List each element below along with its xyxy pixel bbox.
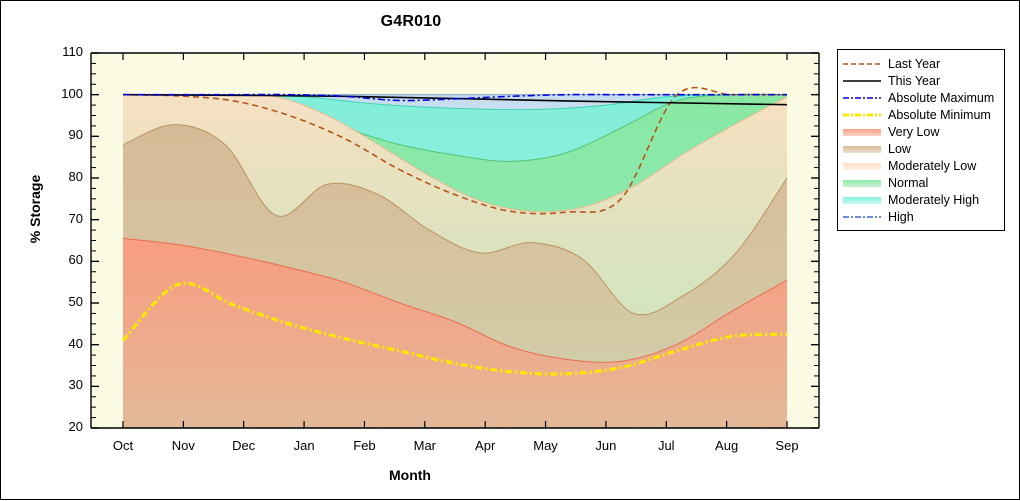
y-tick-label: 110: [43, 44, 83, 59]
x-tick-label: Mar: [395, 438, 455, 453]
legend-key-line-dash-dot-icon: [842, 210, 882, 224]
legend-item[interactable]: Moderately High: [842, 191, 1000, 208]
legend-item[interactable]: Normal: [842, 174, 1000, 191]
y-tick-label: 30: [43, 377, 83, 392]
x-tick-label: Apr: [455, 438, 515, 453]
y-axis-title: % Storage: [27, 149, 43, 269]
legend-key-line-solid-icon: [842, 74, 882, 88]
legend-key-swatch-icon: [842, 193, 882, 207]
legend-item[interactable]: Absolute Maximum: [842, 89, 1000, 106]
legend-key-line-dash-dot-icon: [842, 108, 882, 122]
legend-item-label: Moderately High: [888, 193, 979, 207]
x-tick-label: Aug: [697, 438, 757, 453]
legend-item[interactable]: High: [842, 208, 1000, 225]
legend-item-label: Very Low: [888, 125, 939, 139]
legend-item-label: Absolute Minimum: [888, 108, 991, 122]
y-tick-label: 60: [43, 252, 83, 267]
y-tick-label: 20: [43, 419, 83, 434]
chart-window: G4R010 % Storage Month 20304050607080901…: [0, 0, 1020, 500]
x-tick-label: Oct: [93, 438, 153, 453]
legend-item-label: Absolute Maximum: [888, 91, 994, 105]
legend-item[interactable]: Absolute Minimum: [842, 106, 1000, 123]
legend-key-swatch-icon: [842, 176, 882, 190]
x-tick-label: Nov: [153, 438, 213, 453]
x-tick-label: Jul: [636, 438, 696, 453]
legend-item[interactable]: Moderately Low: [842, 157, 1000, 174]
legend-item[interactable]: Last Year: [842, 55, 1000, 72]
y-tick-label: 80: [43, 169, 83, 184]
legend-key-swatch-icon: [842, 142, 882, 156]
x-tick-label: Sep: [757, 438, 817, 453]
x-tick-label: May: [516, 438, 576, 453]
legend-item-label: Moderately Low: [888, 159, 976, 173]
x-tick-label: Jan: [274, 438, 334, 453]
legend-item[interactable]: Low: [842, 140, 1000, 157]
legend-item-label: This Year: [888, 74, 940, 88]
legend-item-label: Low: [888, 142, 911, 156]
legend-item[interactable]: This Year: [842, 72, 1000, 89]
x-tick-label: Dec: [214, 438, 274, 453]
legend-key-swatch-icon: [842, 125, 882, 139]
y-tick-label: 100: [43, 86, 83, 101]
chart-legend: Last YearThis YearAbsolute MaximumAbsolu…: [837, 49, 1005, 231]
legend-item-label: Last Year: [888, 57, 940, 71]
y-tick-label: 40: [43, 336, 83, 351]
legend-key-line-dashed-icon: [842, 57, 882, 71]
legend-item[interactable]: Very Low: [842, 123, 1000, 140]
x-axis-title: Month: [1, 467, 819, 483]
y-tick-label: 50: [43, 294, 83, 309]
x-tick-label: Feb: [334, 438, 394, 453]
legend-item-label: Normal: [888, 176, 928, 190]
x-tick-label: Jun: [576, 438, 636, 453]
legend-key-swatch-icon: [842, 159, 882, 173]
y-tick-label: 90: [43, 127, 83, 142]
legend-key-line-dash-dot-icon: [842, 91, 882, 105]
y-tick-label: 70: [43, 211, 83, 226]
legend-item-label: High: [888, 210, 914, 224]
